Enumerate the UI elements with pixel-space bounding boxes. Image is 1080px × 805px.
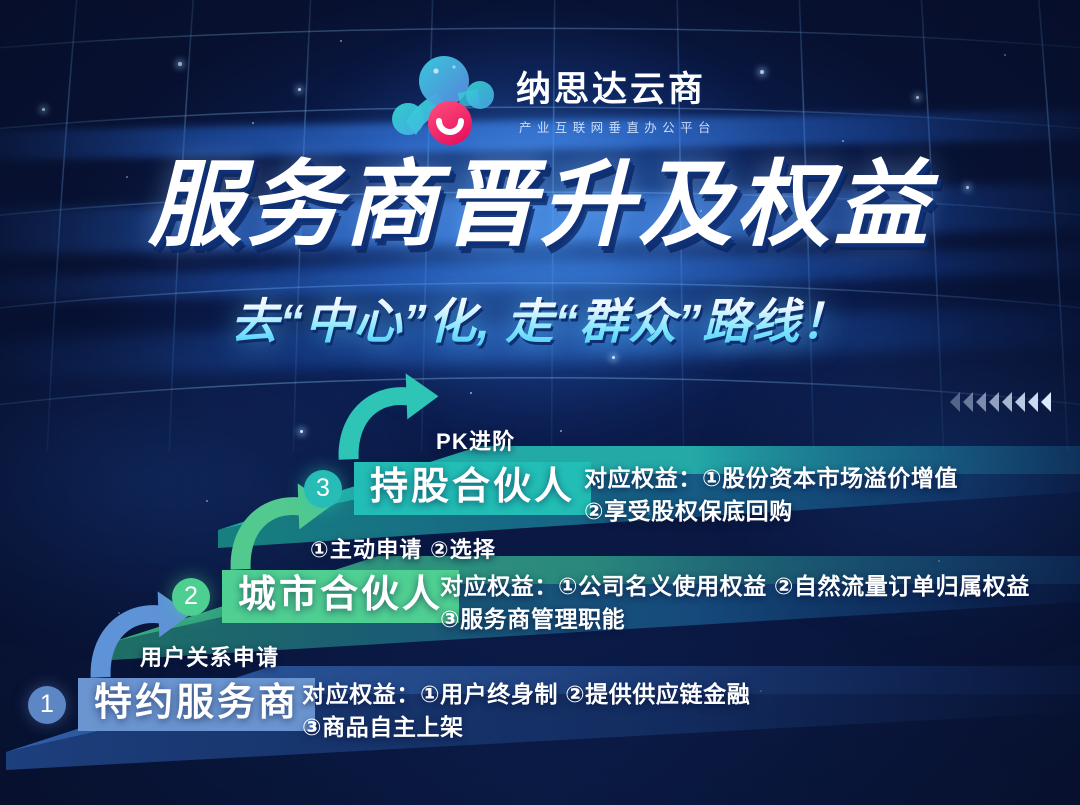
- tier-number-3: 3: [304, 470, 342, 508]
- brand-tagline: 产业互联网垂直办公平台: [516, 117, 716, 136]
- star-particle: [252, 122, 254, 124]
- page-subtitle: 去“中心”化, 走“群众”路线！: [0, 282, 1080, 352]
- tier-number-1: 1: [28, 686, 66, 724]
- star-particle: [916, 96, 919, 99]
- tier-name-2: 城市合伙人: [222, 570, 459, 623]
- tier-name-3: 持股合伙人: [354, 462, 591, 515]
- brand-logo: 纳思达云商 产业互联网垂直办公平台: [392, 46, 722, 156]
- tier-row-1: 1 特约服务商: [28, 678, 315, 731]
- molecule-smile-logo-icon: [392, 49, 502, 153]
- star-particle: [1004, 54, 1006, 56]
- tier-benefits-1: 对应权益：①用户终身制 ②提供供应链金融 ③商品自主上架: [302, 678, 750, 743]
- star-particle: [340, 40, 342, 42]
- tier-benefits-2: 对应权益：①公司名义使用权益 ②自然流量订单归属权益 ③服务商管理职能: [440, 570, 1030, 635]
- benefit-line: 对应权益：①公司名义使用权益 ②自然流量订单归属权益: [440, 570, 1030, 603]
- step-label-1: 用户关系申请: [140, 640, 279, 672]
- tier-number-2: 2: [172, 578, 210, 616]
- star-particle: [612, 356, 615, 359]
- star-particle: [842, 140, 844, 142]
- step-label-2: ①主动申请 ②选择: [310, 532, 496, 564]
- page-title: 服务商晋升及权益: [0, 158, 1080, 252]
- benefit-line: 对应权益：①用户终身制 ②提供供应链金融: [302, 678, 750, 711]
- brand-text: 纳思达云商 产业互联网垂直办公平台: [516, 66, 716, 135]
- benefit-line: 对应权益：①股份资本市场溢价增值: [584, 462, 958, 495]
- tier-row-3: 3 持股合伙人: [304, 462, 591, 515]
- brand-name: 纳思达云商: [516, 70, 716, 109]
- step-label-3: PK进阶: [436, 424, 515, 456]
- star-particle: [42, 108, 45, 111]
- star-particle: [178, 62, 182, 66]
- tier-benefits-3: 对应权益：①股份资本市场溢价增值 ②享受股权保底回购: [584, 462, 958, 527]
- poster-canvas: 纳思达云商 产业互联网垂直办公平台 服务商晋升及权益 去“中心”化, 走“群众”…: [0, 0, 1080, 805]
- benefit-line: ③商品自主上架: [302, 711, 750, 744]
- star-particle: [760, 70, 764, 74]
- tier-row-2: 2 城市合伙人: [172, 570, 459, 623]
- benefit-line: ③服务商管理职能: [440, 603, 1030, 636]
- tier-name-1: 特约服务商: [78, 678, 315, 731]
- benefit-line: ②享受股权保底回购: [584, 495, 958, 528]
- star-particle: [298, 88, 301, 91]
